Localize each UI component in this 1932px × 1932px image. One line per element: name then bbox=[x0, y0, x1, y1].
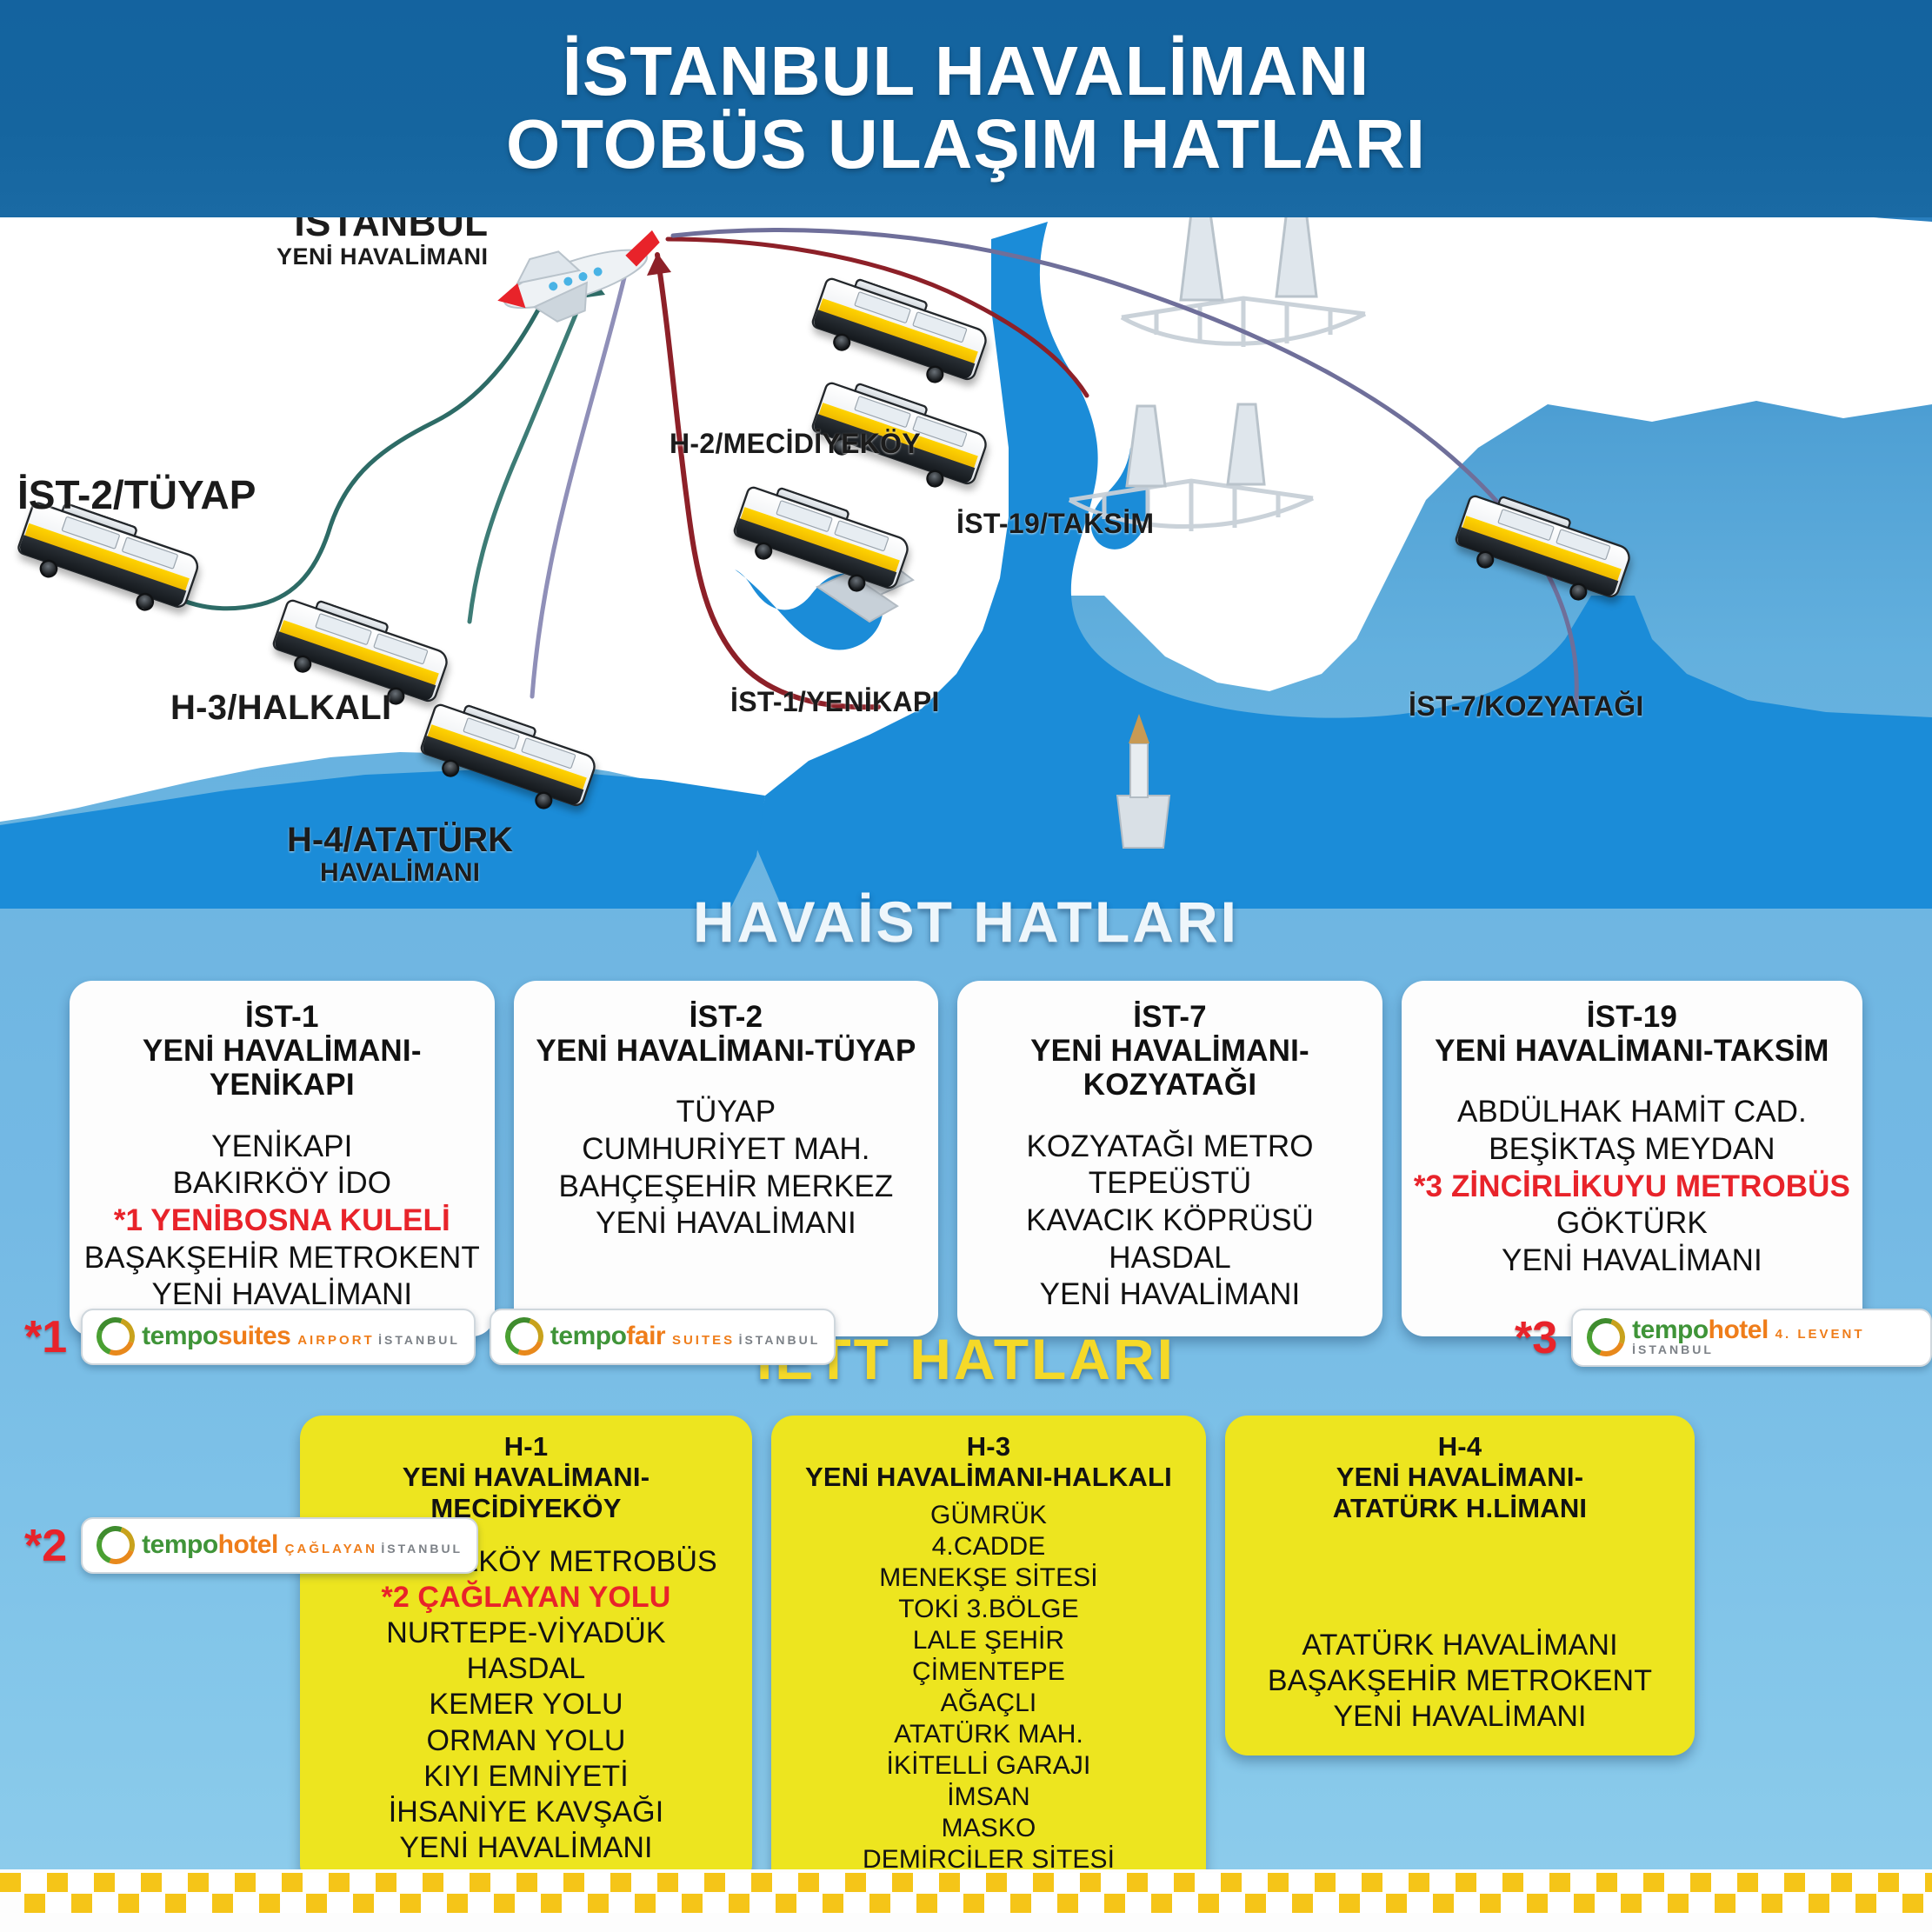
stop-item: ORMAN YOLU bbox=[309, 1723, 743, 1759]
logo-line2: SUITES bbox=[672, 1333, 735, 1348]
logo-brand-b: hotel bbox=[218, 1530, 278, 1559]
logo-brand-a: tempo bbox=[1632, 1316, 1709, 1344]
stop-item: ÇİMENTEPE bbox=[780, 1656, 1197, 1688]
taxi-checker-row-bottom bbox=[24, 1894, 1932, 1913]
stop-list-h3: GÜMRÜK 4.CADDE MENEKŞE SİTESİ TOKİ 3.BÖL… bbox=[780, 1500, 1197, 1907]
taxi-checker-row-top bbox=[0, 1873, 1932, 1892]
card-route-h1: YENİ HAVALİMANI-MECİDİYEKÖY bbox=[403, 1462, 650, 1522]
stop-item: TÜYAP bbox=[526, 1094, 927, 1131]
iett-card-h4[interactable]: H-4 YENİ HAVALİMANI- ATATÜRK H.LİMANI AT… bbox=[1225, 1416, 1695, 1755]
footnote-group-3: *3 tempohotel 4. LEVENT İSTANBUL bbox=[1515, 1309, 1932, 1367]
footnote-marker-2: *2 bbox=[24, 1523, 67, 1569]
stop-item: CUMHURİYET MAH. bbox=[526, 1131, 927, 1169]
stop-item: GÜMRÜK bbox=[780, 1500, 1197, 1531]
footnote-marker-1: *1 bbox=[24, 1315, 67, 1360]
footnote-group-1: *1 temposuites AIRPORT İSTANBUL tempofai… bbox=[24, 1309, 836, 1365]
card-title-h4: H-4 YENİ HAVALİMANI- ATATÜRK H.LİMANI bbox=[1234, 1431, 1686, 1523]
card-code-ist2: İST-2 bbox=[690, 1000, 763, 1034]
stop-item: YENİ HAVALİMANI bbox=[1234, 1699, 1686, 1735]
card-title-ist2: İST-2 YENİ HAVALİMANI-TÜYAP bbox=[526, 1000, 927, 1068]
stop-item: HASDAL bbox=[309, 1651, 743, 1687]
havaist-card-ist1[interactable]: İST-1 YENİ HAVALİMANI-YENİKAPI YENİKAPI … bbox=[70, 981, 495, 1336]
card-title-ist1: İST-1 YENİ HAVALİMANI-YENİKAPI bbox=[82, 1000, 483, 1103]
logo-line2: AIRPORT bbox=[297, 1333, 375, 1348]
havaist-card-ist19[interactable]: İST-19 YENİ HAVALİMANI-TAKSİM ABDÜLHAK H… bbox=[1402, 981, 1862, 1336]
logo-brand-b: hotel bbox=[1709, 1316, 1769, 1344]
stop-item: HASDAL bbox=[969, 1240, 1370, 1277]
card-route-h3: YENİ HAVALİMANI-HALKALI bbox=[805, 1462, 1172, 1492]
stop-item-highlighted: *2 ÇAĞLAYAN YOLU bbox=[309, 1580, 743, 1616]
havaist-card-row: İST-1 YENİ HAVALİMANI-YENİKAPI YENİKAPI … bbox=[70, 981, 1862, 1336]
card-code-h1: H-1 bbox=[504, 1431, 549, 1462]
poster-root: İSTANBUL HAVALİMANI OTOBÜS ULAŞIM HATLAR… bbox=[0, 0, 1932, 1932]
logo-tempo-suites-airport[interactable]: temposuites AIRPORT İSTANBUL bbox=[81, 1309, 476, 1365]
stop-list-ist19: ABDÜLHAK HAMİT CAD. BEŞİKTAŞ MEYDAN *3 Z… bbox=[1414, 1094, 1850, 1279]
stop-list-ist2: TÜYAP CUMHURİYET MAH. BAHÇEŞEHİR MERKEZ … bbox=[526, 1094, 927, 1242]
stop-item: ATATÜRK HAVALİMANI bbox=[1234, 1628, 1686, 1663]
stop-item-highlighted: *1 YENİBOSNA KULELİ bbox=[82, 1203, 483, 1240]
stop-item: YENİ HAVALİMANI bbox=[969, 1276, 1370, 1314]
card-route-ist2: YENİ HAVALİMANI-TÜYAP bbox=[526, 1034, 927, 1068]
stop-item: BAŞAKŞEHİR METROKENT bbox=[1234, 1663, 1686, 1699]
logo-line3: İSTANBUL bbox=[1632, 1342, 1714, 1356]
title-line-1: İSTANBUL HAVALİMANI bbox=[0, 35, 1932, 108]
logo-tempo-hotel-caglayan[interactable]: tempohotel ÇAĞLAYAN İSTANBUL bbox=[81, 1517, 478, 1574]
poster-header: İSTANBUL HAVALİMANI OTOBÜS ULAŞIM HATLAR… bbox=[0, 0, 1932, 217]
map-label-ist1-yenikapi: İST-1/YENİKAPI bbox=[730, 687, 940, 717]
stop-item: TEPEÜSTÜ bbox=[969, 1165, 1370, 1203]
stop-item: MENEKŞE SİTESİ bbox=[780, 1562, 1197, 1594]
stop-list-ist7: KOZYATAĞI METRO TEPEÜSTÜ KAVACIK KÖPRÜSÜ… bbox=[969, 1129, 1370, 1314]
map-label-ist7-kozyatagi: İST-7/KOZYATAĞI bbox=[1409, 691, 1644, 722]
logo-tempo-hotel-4levent[interactable]: tempohotel 4. LEVENT İSTANBUL bbox=[1571, 1309, 1932, 1367]
stop-list-ist1: YENİKAPI BAKIRKÖY İDO *1 YENİBOSNA KULEL… bbox=[82, 1129, 483, 1314]
iett-card-h3[interactable]: H-3 YENİ HAVALİMANI-HALKALI GÜMRÜK 4.CAD… bbox=[771, 1416, 1206, 1928]
stop-item: İHSANİYE KAVŞAĞI bbox=[309, 1795, 743, 1830]
title-line-2: OTOBÜS ULAŞIM HATLARI bbox=[0, 108, 1932, 181]
footnote-group-2: *2 tempohotel ÇAĞLAYAN İSTANBUL bbox=[24, 1517, 478, 1574]
havaist-card-ist2[interactable]: İST-2 YENİ HAVALİMANI-TÜYAP TÜYAP CUMHUR… bbox=[514, 981, 939, 1336]
stop-item: TOKİ 3.BÖLGE bbox=[780, 1594, 1197, 1625]
stop-item: ATATÜRK MAH. bbox=[780, 1719, 1197, 1750]
airplane-icon bbox=[483, 211, 666, 342]
stop-item: KOZYATAĞI METRO bbox=[969, 1129, 1370, 1166]
logo-tempo-fair-suites[interactable]: tempofair SUITES İSTANBUL bbox=[490, 1309, 836, 1365]
logo-brand-a: tempo bbox=[550, 1322, 627, 1350]
stop-item: YENİ HAVALİMANI bbox=[1414, 1242, 1850, 1280]
logo-line3: İSTANBUL bbox=[381, 1542, 463, 1556]
card-title-ist19: İST-19 YENİ HAVALİMANI-TAKSİM bbox=[1414, 1000, 1850, 1068]
tempo-circle-icon bbox=[90, 1520, 141, 1570]
stop-item: YENİ HAVALİMANI bbox=[309, 1830, 743, 1866]
stop-item: AĞAÇLI bbox=[780, 1688, 1197, 1719]
stop-item: BEŞİKTAŞ MEYDAN bbox=[1414, 1131, 1850, 1169]
tempo-circle-icon bbox=[90, 1311, 141, 1362]
stop-item: GÖKTÜRK bbox=[1414, 1205, 1850, 1242]
stop-item: KIYI EMNİYETİ bbox=[309, 1759, 743, 1795]
stop-item: YENİ HAVALİMANI bbox=[526, 1205, 927, 1242]
card-route-h4: YENİ HAVALİMANI- bbox=[1336, 1462, 1584, 1492]
card-code-h3: H-3 bbox=[967, 1431, 1011, 1462]
logo-line3: İSTANBUL bbox=[739, 1333, 821, 1347]
card-code-ist1: İST-1 bbox=[245, 1000, 319, 1034]
logo-text-block: tempohotel ÇAĞLAYAN İSTANBUL bbox=[142, 1532, 463, 1558]
logo-brand-a: tempo bbox=[142, 1530, 218, 1559]
stop-item: ABDÜLHAK HAMİT CAD. bbox=[1414, 1094, 1850, 1131]
card-code-ist7: İST-7 bbox=[1133, 1000, 1207, 1034]
card-route-ist1: YENİ HAVALİMANI-YENİKAPI bbox=[82, 1034, 483, 1102]
logo-brand-b: fair bbox=[626, 1322, 665, 1350]
tempo-circle-icon bbox=[499, 1311, 550, 1362]
card-code-ist19: İST-19 bbox=[1587, 1000, 1677, 1034]
logo-line3: İSTANBUL bbox=[378, 1333, 460, 1347]
taxi-stripe-footer bbox=[0, 1869, 1932, 1932]
map-svg bbox=[0, 187, 1932, 909]
stop-item: KEMER YOLU bbox=[309, 1687, 743, 1722]
logo-text-block: tempofair SUITES İSTANBUL bbox=[550, 1323, 820, 1349]
logo-text-block: temposuites AIRPORT İSTANBUL bbox=[142, 1323, 460, 1349]
page-title: İSTANBUL HAVALİMANI OTOBÜS ULAŞIM HATLAR… bbox=[0, 35, 1932, 181]
logo-line2: 4. LEVENT bbox=[1775, 1327, 1865, 1342]
stop-list-h1: MECİDİYEKÖY METROBÜS *2 ÇAĞLAYAN YOLU NU… bbox=[309, 1544, 743, 1866]
stop-item: LALE ŞEHİR bbox=[780, 1625, 1197, 1656]
h4-label-sub: HAVALİMANI bbox=[287, 859, 513, 887]
stop-item: BAHÇEŞEHİR MERKEZ bbox=[526, 1169, 927, 1206]
stop-item: MASKO bbox=[780, 1813, 1197, 1844]
stop-item: BAŞAKŞEHİR METROKENT bbox=[82, 1240, 483, 1277]
stop-item: İMSAN bbox=[780, 1782, 1197, 1813]
map-label-ist2-tuyap: İST-2/TÜYAP bbox=[17, 474, 256, 517]
logo-brand-b: suites bbox=[218, 1322, 291, 1350]
airport-subtitle: YENİ HAVALİMANI bbox=[276, 244, 489, 270]
iett-card-h1[interactable]: H-1 YENİ HAVALİMANI-MECİDİYEKÖY MECİDİYE… bbox=[300, 1416, 752, 1887]
logo-text-block: tempohotel 4. LEVENT İSTANBUL bbox=[1632, 1317, 1916, 1357]
stop-item: KAVACIK KÖPRÜSÜ bbox=[969, 1203, 1370, 1240]
card-route-ist7: YENİ HAVALİMANI-KOZYATAĞI bbox=[969, 1034, 1370, 1102]
stop-item: YENİKAPI bbox=[82, 1129, 483, 1166]
stop-list-h4: ATATÜRK HAVALİMANI BAŞAKŞEHİR METROKENT … bbox=[1234, 1628, 1686, 1735]
card-title-h1: H-1 YENİ HAVALİMANI-MECİDİYEKÖY bbox=[309, 1431, 743, 1523]
map-label-h4-ataturk: H-4/ATATÜRK HAVALİMANI bbox=[287, 822, 513, 888]
logo-brand-a: tempo bbox=[142, 1322, 218, 1350]
map-label-h3-halkali: H-3/HALKALI bbox=[170, 690, 391, 727]
stop-item: 4.CADDE bbox=[780, 1531, 1197, 1562]
card-code-h4: H-4 bbox=[1438, 1431, 1482, 1462]
iett-card-row: H-1 YENİ HAVALİMANI-MECİDİYEKÖY MECİDİYE… bbox=[300, 1416, 1700, 1928]
card-title-h3: H-3 YENİ HAVALİMANI-HALKALI bbox=[780, 1431, 1197, 1493]
card-title-ist7: İST-7 YENİ HAVALİMANI-KOZYATAĞI bbox=[969, 1000, 1370, 1103]
map-illustration: İSTANBUL YENİ HAVALİMANI bbox=[0, 187, 1932, 909]
stop-item: NURTEPE-VİYADÜK bbox=[309, 1616, 743, 1651]
map-label-h2-mecidiyekoy: H-2/MECİDİYEKÖY bbox=[670, 429, 921, 459]
stop-item: İKİTELLİ GARAJI bbox=[780, 1750, 1197, 1782]
map-label-ist19-taksim: İST-19/TAKSİM bbox=[956, 509, 1154, 539]
stop-item-highlighted: *3 ZİNCİRLİKUYU METROBÜS bbox=[1414, 1169, 1850, 1206]
stop-item: BAKIRKÖY İDO bbox=[82, 1165, 483, 1203]
card-route-h4-line2: ATATÜRK H.LİMANI bbox=[1333, 1493, 1587, 1523]
section-heading-havaist: HAVAİST HATLARI bbox=[0, 889, 1932, 955]
h4-label-main: H-4/ATATÜRK bbox=[287, 822, 513, 859]
logo-line2: ÇAĞLAYAN bbox=[285, 1542, 377, 1556]
havaist-card-ist7[interactable]: İST-7 YENİ HAVALİMANI-KOZYATAĞI KOZYATAĞ… bbox=[957, 981, 1382, 1336]
footnote-marker-3: *3 bbox=[1515, 1316, 1557, 1361]
tempo-circle-icon bbox=[1581, 1312, 1631, 1362]
card-route-ist19: YENİ HAVALİMANI-TAKSİM bbox=[1414, 1034, 1850, 1068]
